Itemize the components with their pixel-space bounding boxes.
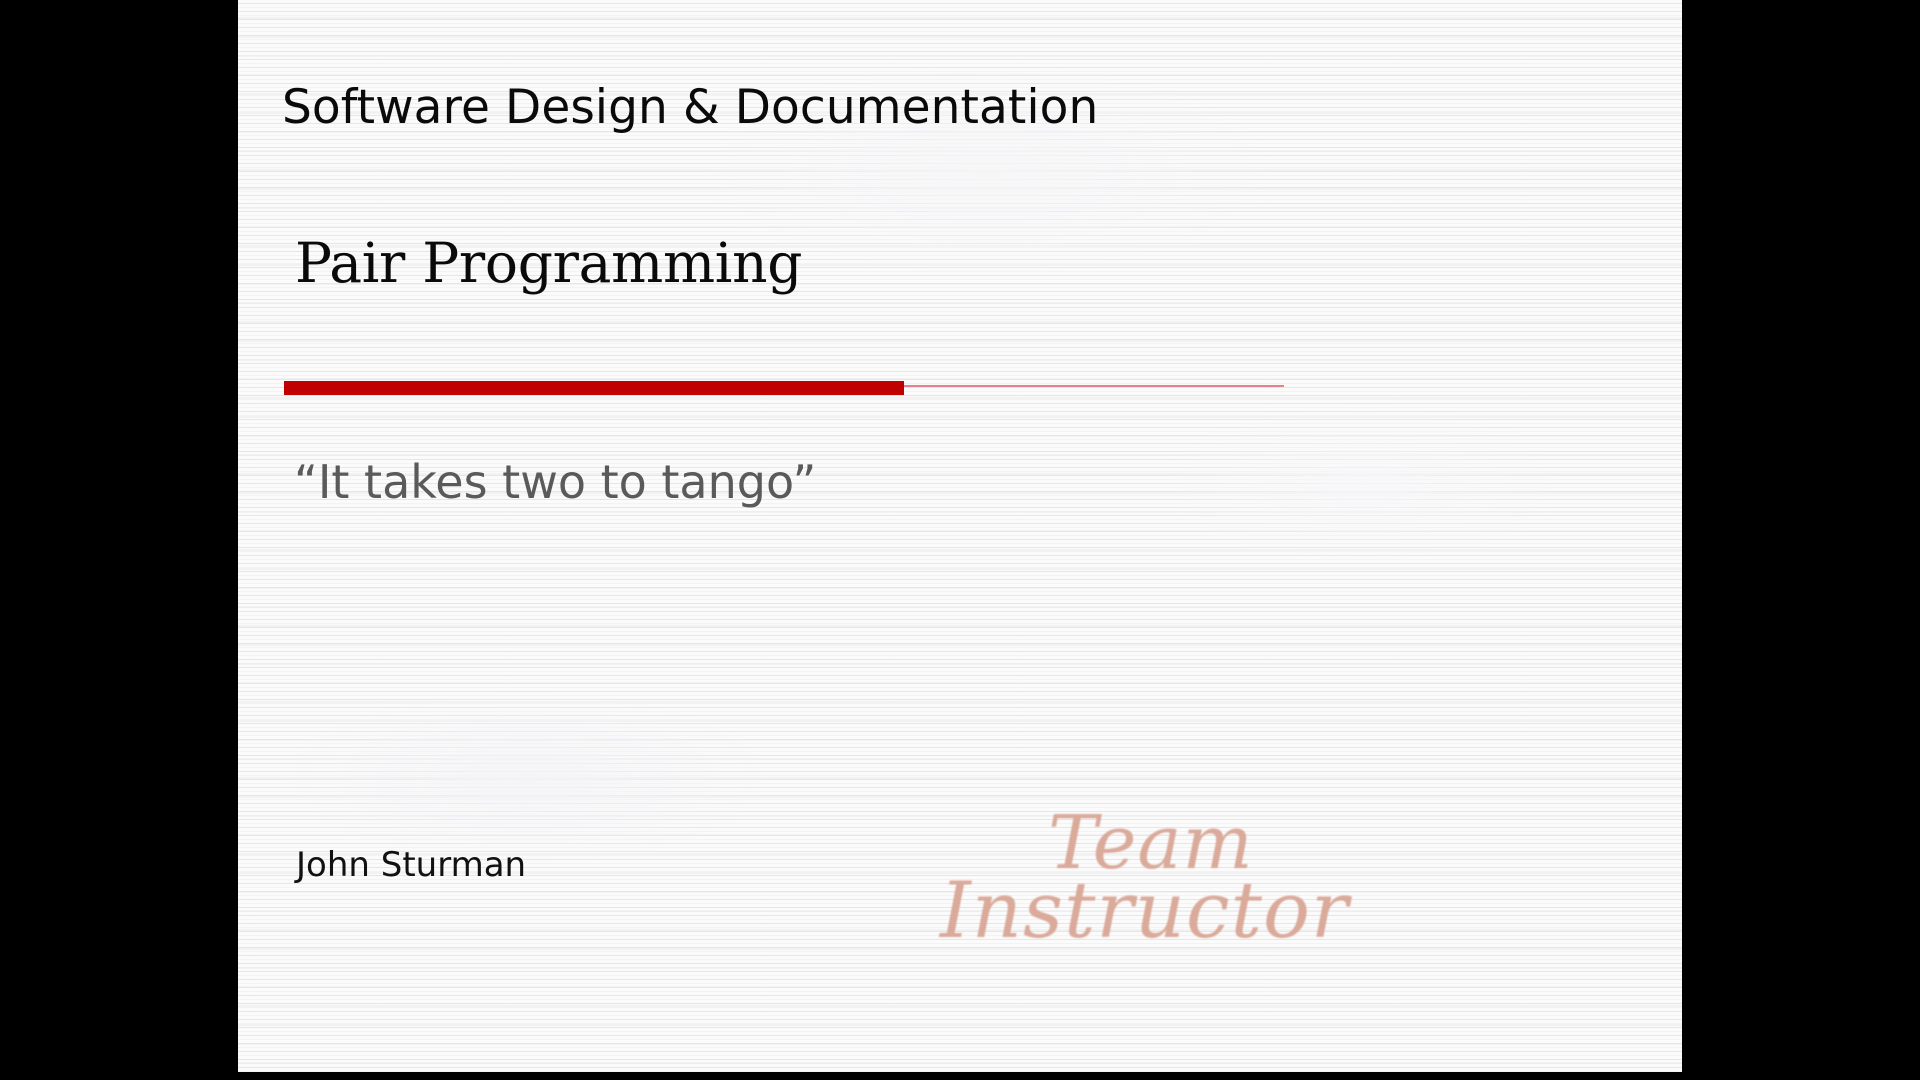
letterbox-left bbox=[0, 0, 238, 1080]
slide-main-title: Pair Programming bbox=[295, 231, 802, 295]
presentation-slide: Software Design & Documentation Pair Pro… bbox=[238, 0, 1682, 1080]
watermark-line-instructor: Instructor bbox=[940, 866, 1349, 956]
course-header-title: Software Design & Documentation bbox=[282, 80, 1098, 135]
divider-rule-thick bbox=[284, 381, 904, 395]
team-instructor-watermark: Team Instructor bbox=[938, 808, 1338, 978]
slide-subtitle-quote: “It takes two to tango” bbox=[294, 455, 816, 509]
slide-content: Software Design & Documentation Pair Pro… bbox=[238, 0, 1682, 1080]
author-name: John Sturman bbox=[296, 845, 526, 885]
presentation-viewport: Software Design & Documentation Pair Pro… bbox=[0, 0, 1920, 1080]
slide-bottom-edge bbox=[238, 1072, 1682, 1080]
letterbox-right bbox=[1682, 0, 1920, 1080]
watermark-line-team: Team bbox=[1048, 800, 1254, 886]
